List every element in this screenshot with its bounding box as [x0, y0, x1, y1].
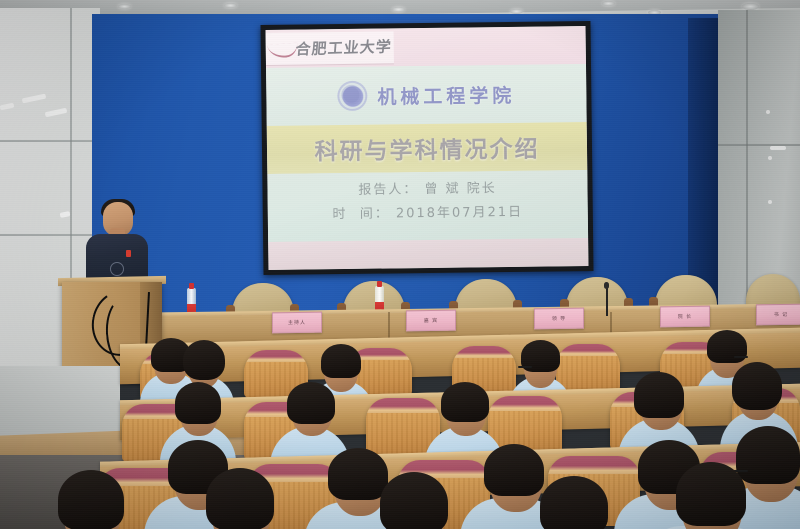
- audience-hair: [328, 448, 388, 500]
- university-swoosh-icon: [267, 43, 298, 59]
- ceiling-downlight: [224, 3, 237, 8]
- auditorium-seat: [556, 344, 620, 392]
- projection-screen: 合肥工业大学 机械工程学院 科研与学科情况介绍 报告人： 曾 斌 院长 时 间：…: [260, 21, 593, 275]
- name-placard: 主持人: [272, 312, 322, 334]
- glasses-icon: [518, 366, 532, 368]
- name-placard: 书 记: [756, 304, 800, 326]
- ceiling-downlight: [392, 7, 405, 12]
- date-line: 时 间： 2018年07月21日: [332, 201, 523, 222]
- audience-hair: [634, 372, 684, 418]
- slide-title: 科研与学科情况介绍: [267, 122, 588, 174]
- name-placard: 院 长: [660, 306, 710, 328]
- seat-trim: [548, 456, 640, 474]
- audience-hair: [441, 382, 489, 422]
- audience-hair: [58, 470, 124, 529]
- seat-grain: [556, 356, 620, 392]
- presenter-line: 报告人： 曾 斌 院长: [358, 177, 497, 198]
- audience-hair: [736, 426, 800, 484]
- gear-icon: [337, 81, 367, 111]
- lapel-pin-icon: [126, 250, 131, 257]
- audience-hair: [676, 462, 746, 526]
- seat-trim: [366, 398, 440, 413]
- ceiling-downlight: [742, 3, 759, 10]
- slide-surface: 合肥工业大学 机械工程学院 科研与学科情况介绍 报告人： 曾 斌 院长 时 间：…: [266, 26, 589, 270]
- university-name: 合肥工业大学: [295, 36, 393, 60]
- microphone-head: [604, 282, 609, 289]
- audience-hair: [380, 472, 448, 529]
- shirt-emblem: [110, 262, 124, 276]
- glasses-icon: [734, 356, 748, 358]
- slide-meta: 报告人： 曾 斌 院长 时 间： 2018年07月21日: [267, 176, 588, 223]
- department-header: 机械工程学院: [266, 66, 587, 124]
- name-placard: 领 导: [534, 308, 584, 330]
- department-name: 机械工程学院: [377, 80, 515, 109]
- lecture-hall-photo: 合肥工业大学 机械工程学院 科研与学科情况介绍 报告人： 曾 斌 院长 时 间：…: [0, 0, 800, 529]
- table-microphone: [606, 286, 608, 316]
- audience-hair: [183, 340, 225, 380]
- ceiling-downlight: [118, 4, 131, 9]
- audience-hair: [732, 362, 782, 410]
- stage-front-wall: [0, 366, 120, 436]
- audience-hair: [175, 382, 221, 424]
- audience-hair: [206, 468, 274, 529]
- name-placard: 嘉 宾: [406, 310, 456, 332]
- seat-trim: [452, 346, 516, 358]
- seat-trim: [244, 350, 308, 362]
- audience-hair: [484, 444, 544, 496]
- audience-hair: [321, 344, 361, 378]
- ceiling-downlight: [602, 1, 615, 6]
- audience-hair: [540, 476, 608, 529]
- audience-hair: [287, 382, 335, 424]
- seat-trim: [556, 344, 620, 356]
- university-logo-block: 合肥工业大学: [266, 31, 394, 66]
- audience-hair: [707, 330, 747, 363]
- seat-trim: [488, 396, 562, 411]
- slide-band-pink-bottom: [268, 238, 588, 270]
